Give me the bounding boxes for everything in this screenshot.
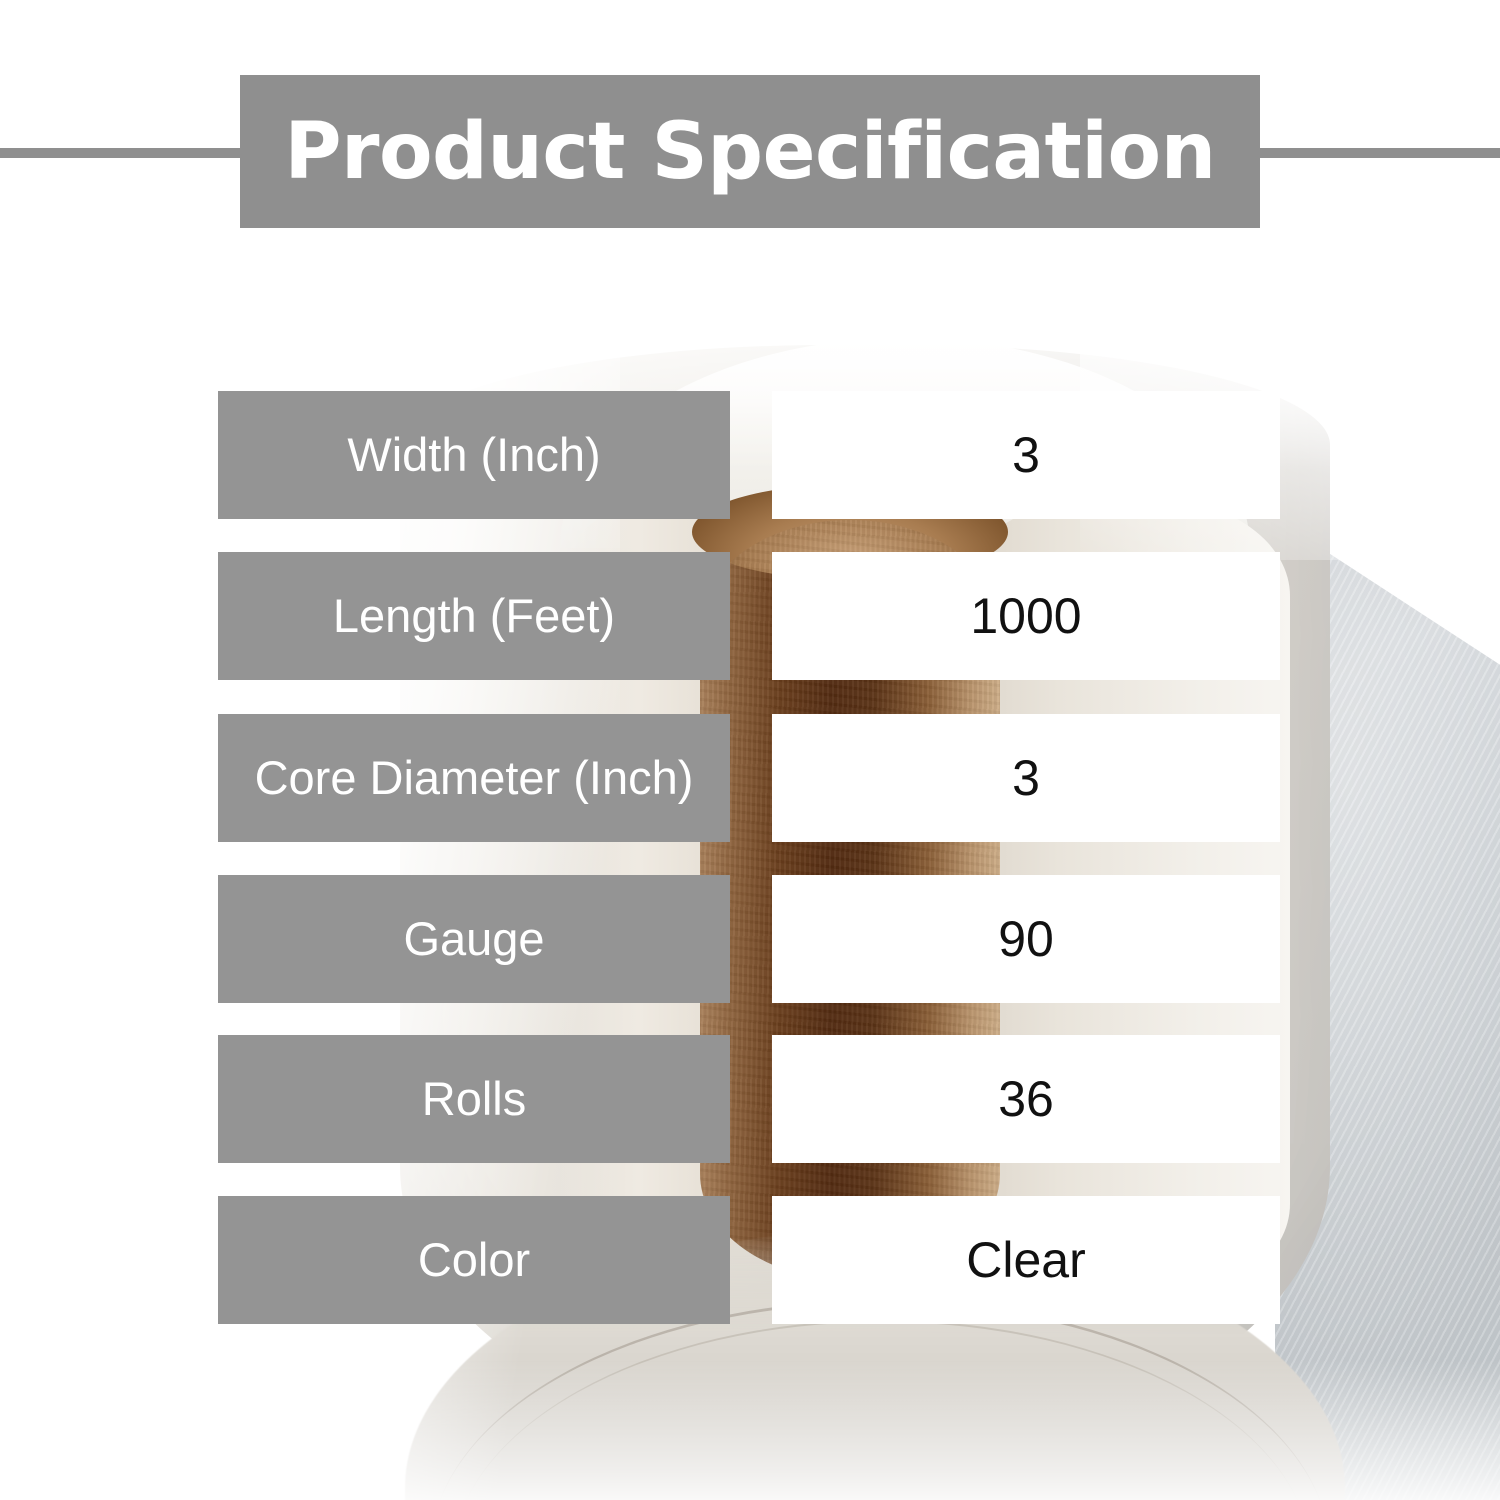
spec-label-length: Length (Feet) <box>218 552 730 680</box>
spec-label-rolls: Rolls <box>218 1035 730 1163</box>
spec-value-length: 1000 <box>772 552 1280 680</box>
specification-table: Width (Inch) 3 Length (Feet) 1000 Core D… <box>0 0 1500 1500</box>
spec-label-color: Color <box>218 1196 730 1324</box>
spec-value-color: Clear <box>772 1196 1280 1324</box>
spec-label-gauge: Gauge <box>218 875 730 1003</box>
spec-value-width: 3 <box>772 391 1280 519</box>
spec-label-width: Width (Inch) <box>218 391 730 519</box>
spec-value-gauge: 90 <box>772 875 1280 1003</box>
spec-value-core-diameter: 3 <box>772 714 1280 842</box>
spec-label-core-diameter: Core Diameter (Inch) <box>218 714 730 842</box>
product-specification-infographic: Product Specification Width (Inch) 3 Len… <box>0 0 1500 1500</box>
spec-value-rolls: 36 <box>772 1035 1280 1163</box>
